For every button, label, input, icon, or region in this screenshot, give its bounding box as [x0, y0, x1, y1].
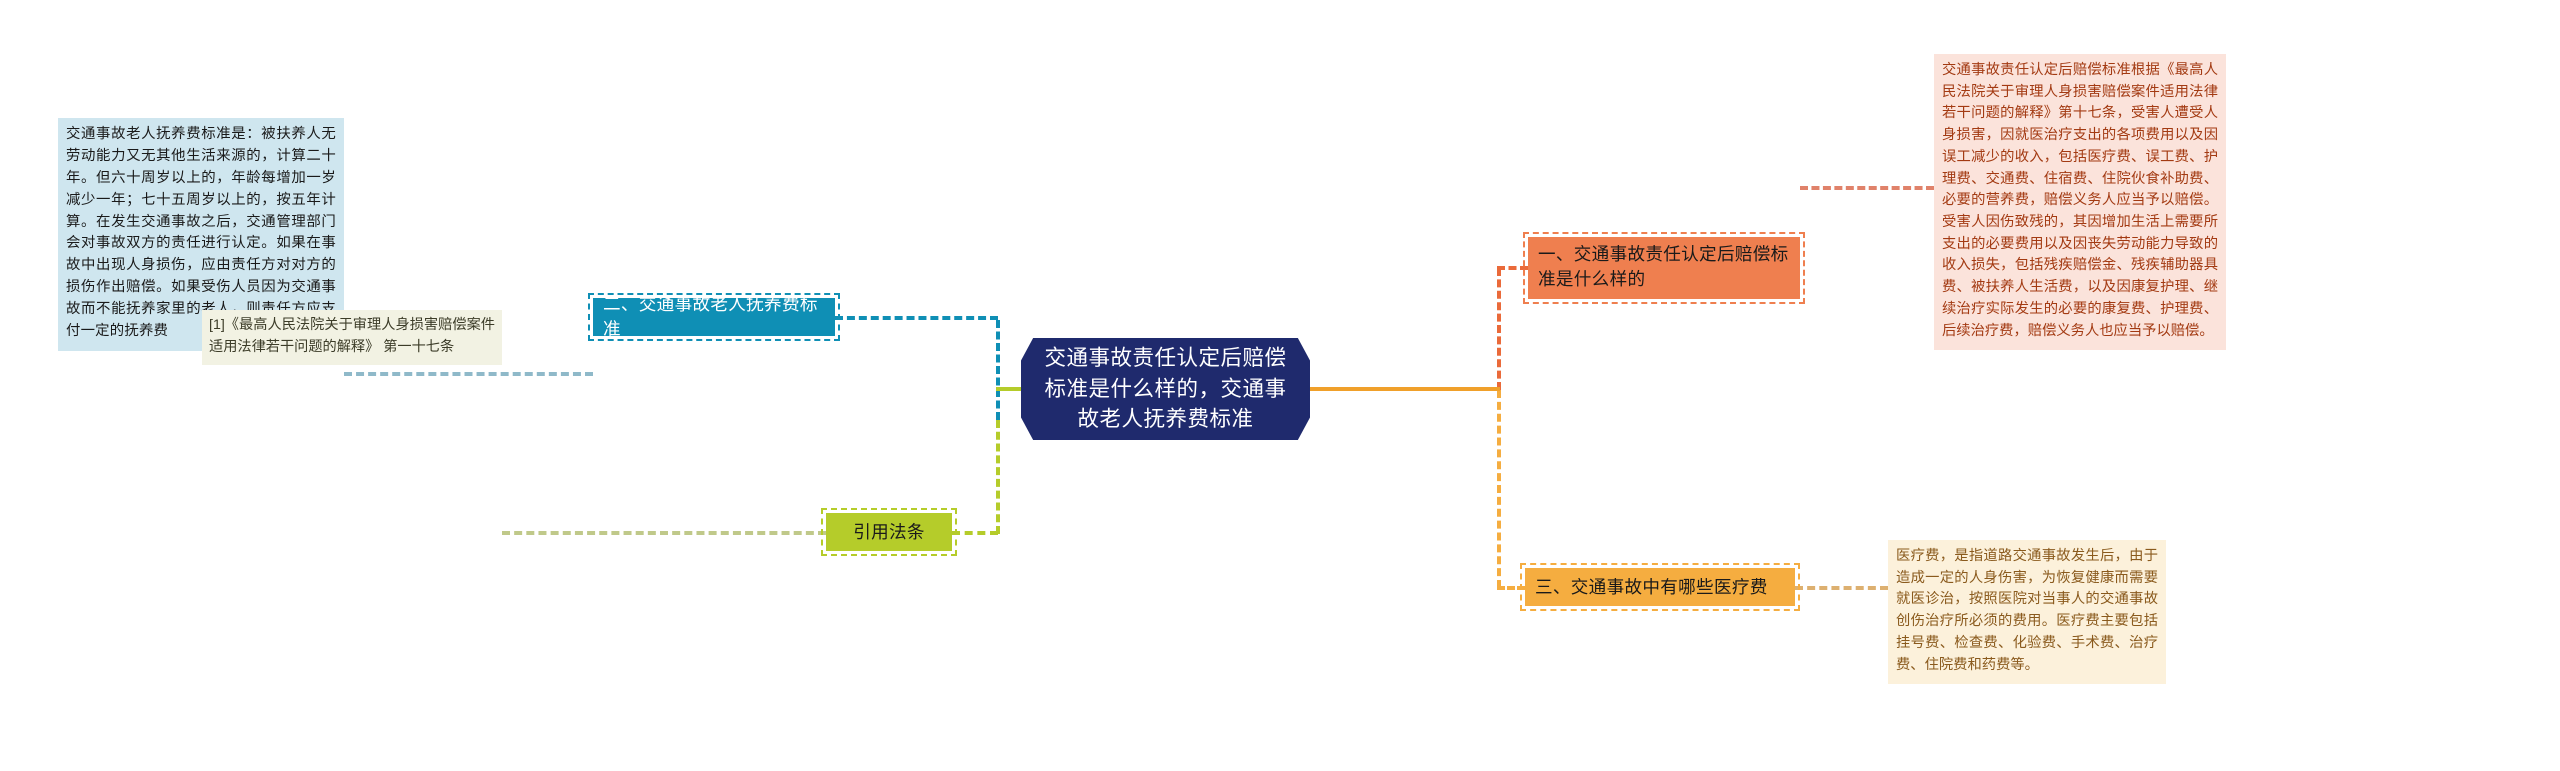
connector-left-trunk-green [996, 420, 1000, 534]
branch-node-liability-standard-label: 一、交通事故责任认定后赔偿标准是什么样的 [1538, 242, 1790, 292]
connector-center-left-stub [996, 387, 1022, 391]
cited-law-note: [1]《最高人民法院关于审理人身损害赔偿案件适用法律若干问题的解释》 第一十七条 [202, 310, 502, 365]
branch-node-medical-fees[interactable]: 三、交通事故中有哪些医疗费 [1525, 568, 1795, 606]
mindmap-canvas: 交通事故老人抚养费标准是：被扶养人无劳动能力又无其他生活来源的，计算二十年。但六… [0, 0, 2560, 771]
connector-citation-note [502, 531, 826, 535]
branch-node-cited-law-label: 引用法条 [853, 520, 925, 545]
liability-standard-note: 交通事故责任认定后赔偿标准根据《最高人民法院关于审理人身损害赔偿案件适用法律若干… [1934, 54, 2226, 350]
branch-node-elder-support-label: 二、交通事故老人抚养费标准 [603, 292, 825, 342]
connector-medical-note [1795, 586, 1888, 590]
center-node-label: 交通事故责任认定后赔偿标准是什么样的，交通事故老人抚养费标准 [1035, 343, 1296, 435]
connector-right-trunk-amber [1497, 390, 1501, 588]
connector-citation-branch [952, 531, 998, 535]
medical-fees-note: 医疗费，是指道路交通事故发生后，由于造成一定的人身伤害，为恢复健康而需要就医诊治… [1888, 540, 2166, 684]
connector-center-right-stub [1310, 387, 1500, 391]
branch-node-cited-law[interactable]: 引用法条 [826, 513, 952, 551]
connector-liability-note [1800, 186, 1934, 190]
connector-liability-branch [1497, 266, 1528, 270]
connector-left-trunk-teal [996, 320, 1000, 420]
branch-node-liability-standard[interactable]: 一、交通事故责任认定后赔偿标准是什么样的 [1528, 237, 1800, 299]
connector-elder-note [344, 372, 593, 376]
branch-node-elder-support[interactable]: 二、交通事故老人抚养费标准 [593, 298, 835, 336]
connector-right-trunk-orange [1497, 268, 1501, 390]
connector-elder-branch [835, 316, 998, 320]
center-node[interactable]: 交通事故责任认定后赔偿标准是什么样的，交通事故老人抚养费标准 [1021, 338, 1310, 440]
connector-medical-branch [1497, 586, 1525, 590]
branch-node-medical-fees-label: 三、交通事故中有哪些医疗费 [1535, 575, 1768, 600]
